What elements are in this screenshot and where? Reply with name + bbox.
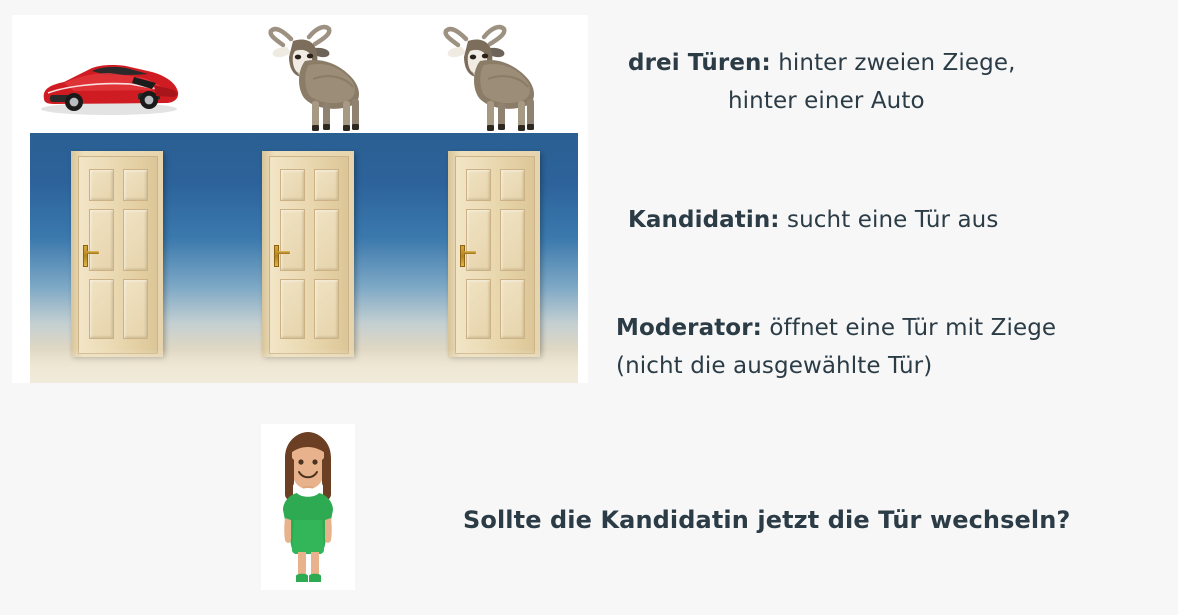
door-panel: [89, 169, 114, 201]
goat-icon: [432, 17, 550, 135]
door-room: [30, 133, 578, 383]
stage-illustration-panel: [12, 15, 588, 383]
door-panel: [123, 169, 148, 201]
door-slab: [269, 156, 349, 354]
candidate-line-1: Kandidatin: sucht eine Tür aus: [628, 201, 998, 239]
door-handle-icon[interactable]: [460, 245, 465, 267]
moderator-line-1: Moderator: öffnet eine Tür mit Ziege: [616, 309, 1056, 347]
moderator-lead-label: Moderator:: [616, 315, 762, 341]
door-panel: [280, 209, 305, 271]
doors-line-1: drei Türen: hinter zweien Ziege,: [628, 44, 1016, 82]
door-panel: [500, 209, 525, 271]
door-panel: [500, 169, 525, 201]
door-panel: [314, 169, 339, 201]
doors-line-2: hinter einer Auto: [628, 82, 1016, 120]
doors-lead-label: drei Türen:: [628, 50, 771, 76]
door-panel: [280, 279, 305, 339]
door-panel: [123, 209, 148, 271]
door-1[interactable]: [71, 151, 163, 357]
door-slab: [455, 156, 535, 354]
goat-icon: [257, 17, 375, 135]
door-panel: [466, 209, 491, 271]
doors-line-2-text: hinter einer Auto: [728, 88, 925, 114]
door-panel: [89, 279, 114, 339]
door-panel: [89, 209, 114, 271]
rule-block-candidate: Kandidatin: sucht eine Tür aus: [628, 201, 998, 239]
door-slab: [78, 156, 158, 354]
door-panel: [500, 279, 525, 339]
moderator-line-2: (nicht die ausgewählte Tür): [616, 347, 1056, 385]
floor-shading: [30, 349, 578, 383]
door-2[interactable]: [262, 151, 354, 357]
door-panel: [466, 279, 491, 339]
door-panel: [123, 279, 148, 339]
door-3[interactable]: [448, 151, 540, 357]
door-panel: [314, 209, 339, 271]
final-question: Sollte die Kandidatin jetzt die Tür wech…: [463, 506, 1070, 534]
candidate-girl-icon: [261, 424, 355, 590]
door-handle-bar-icon[interactable]: [464, 251, 476, 254]
doors-line-1-text: hinter zweien Ziege,: [778, 50, 1015, 76]
door-panel: [314, 279, 339, 339]
rule-block-doors: drei Türen: hinter zweien Ziege, hinter …: [628, 44, 1016, 120]
door-handle-icon[interactable]: [274, 245, 279, 267]
moderator-line-1-text: öffnet eine Tür mit Ziege: [769, 315, 1056, 341]
door-handle-bar-icon[interactable]: [87, 251, 99, 254]
candidate-line-1-text: sucht eine Tür aus: [787, 207, 998, 233]
moderator-line-2-text: (nicht die ausgewählte Tür): [616, 353, 932, 379]
car-icon: [34, 55, 184, 117]
door-panel: [466, 169, 491, 201]
door-handle-icon[interactable]: [83, 245, 88, 267]
candidate-image-frame: [261, 424, 355, 590]
door-handle-bar-icon[interactable]: [278, 251, 290, 254]
prize-band: [12, 15, 588, 133]
rule-block-moderator: Moderator: öffnet eine Tür mit Ziege (ni…: [616, 309, 1056, 385]
door-panel: [280, 169, 305, 201]
candidate-lead-label: Kandidatin:: [628, 207, 780, 233]
